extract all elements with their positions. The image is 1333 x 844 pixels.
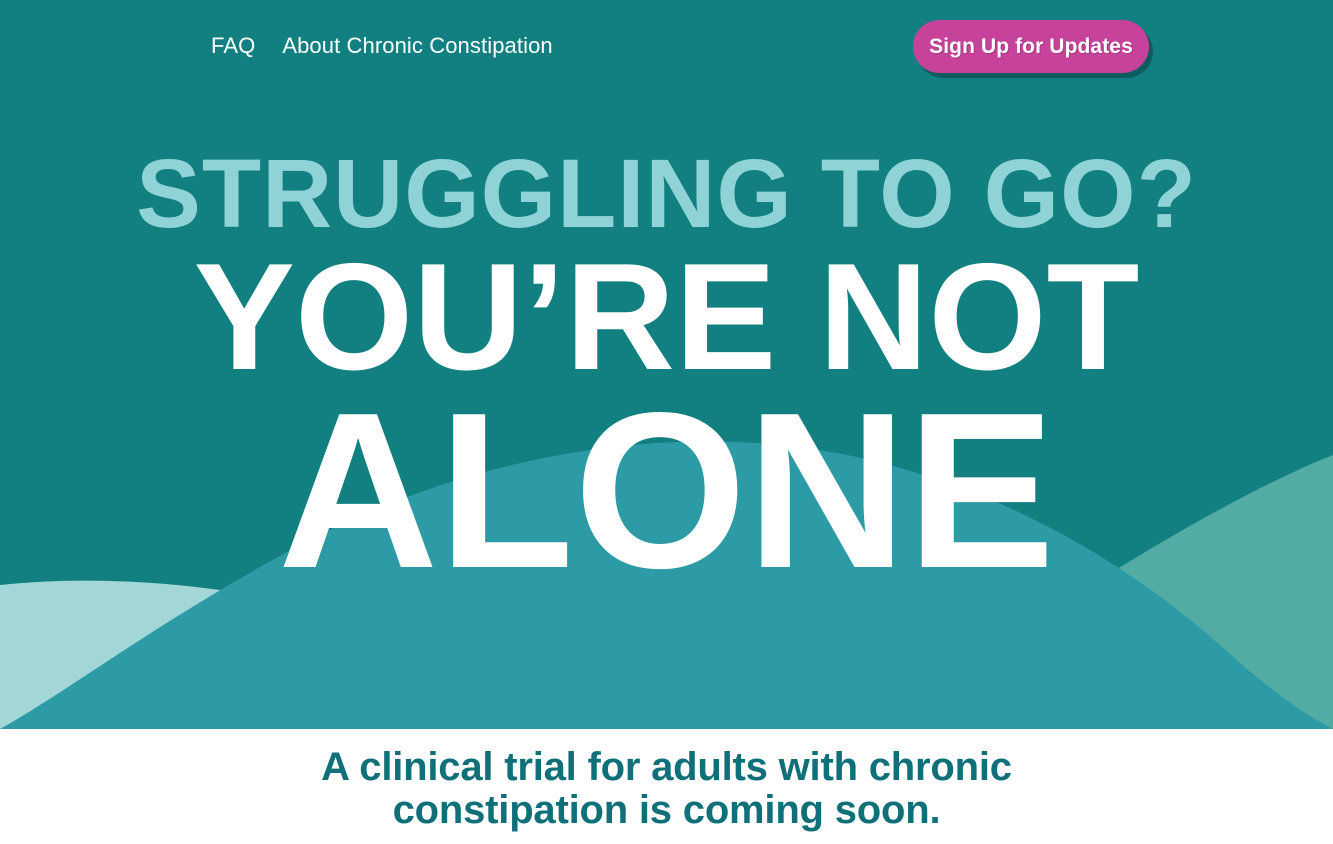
hero-headline: STRUGGLING TO GO? YOU’RE NOT ALONE: [0, 142, 1333, 594]
top-navigation: FAQ About Chronic Constipation Sign Up f…: [0, 0, 1333, 92]
headline-line-struggling: STRUGGLING TO GO?: [0, 142, 1333, 246]
signup-button-wrapper: Sign Up for Updates: [913, 20, 1149, 73]
nav-link-about[interactable]: About Chronic Constipation: [282, 33, 552, 59]
subheading-band: A clinical trial for adults with chronic…: [0, 729, 1333, 844]
nav-link-faq[interactable]: FAQ: [211, 33, 255, 59]
headline-line-alone: ALONE: [0, 388, 1333, 594]
hero-section: FAQ About Chronic Constipation Sign Up f…: [0, 0, 1333, 729]
landing-page: FAQ About Chronic Constipation Sign Up f…: [0, 0, 1333, 844]
nav-link-list: FAQ About Chronic Constipation: [211, 33, 553, 59]
signup-for-updates-button[interactable]: Sign Up for Updates: [913, 20, 1149, 73]
subheading-text: A clinical trial for adults with chronic…: [287, 746, 1047, 832]
